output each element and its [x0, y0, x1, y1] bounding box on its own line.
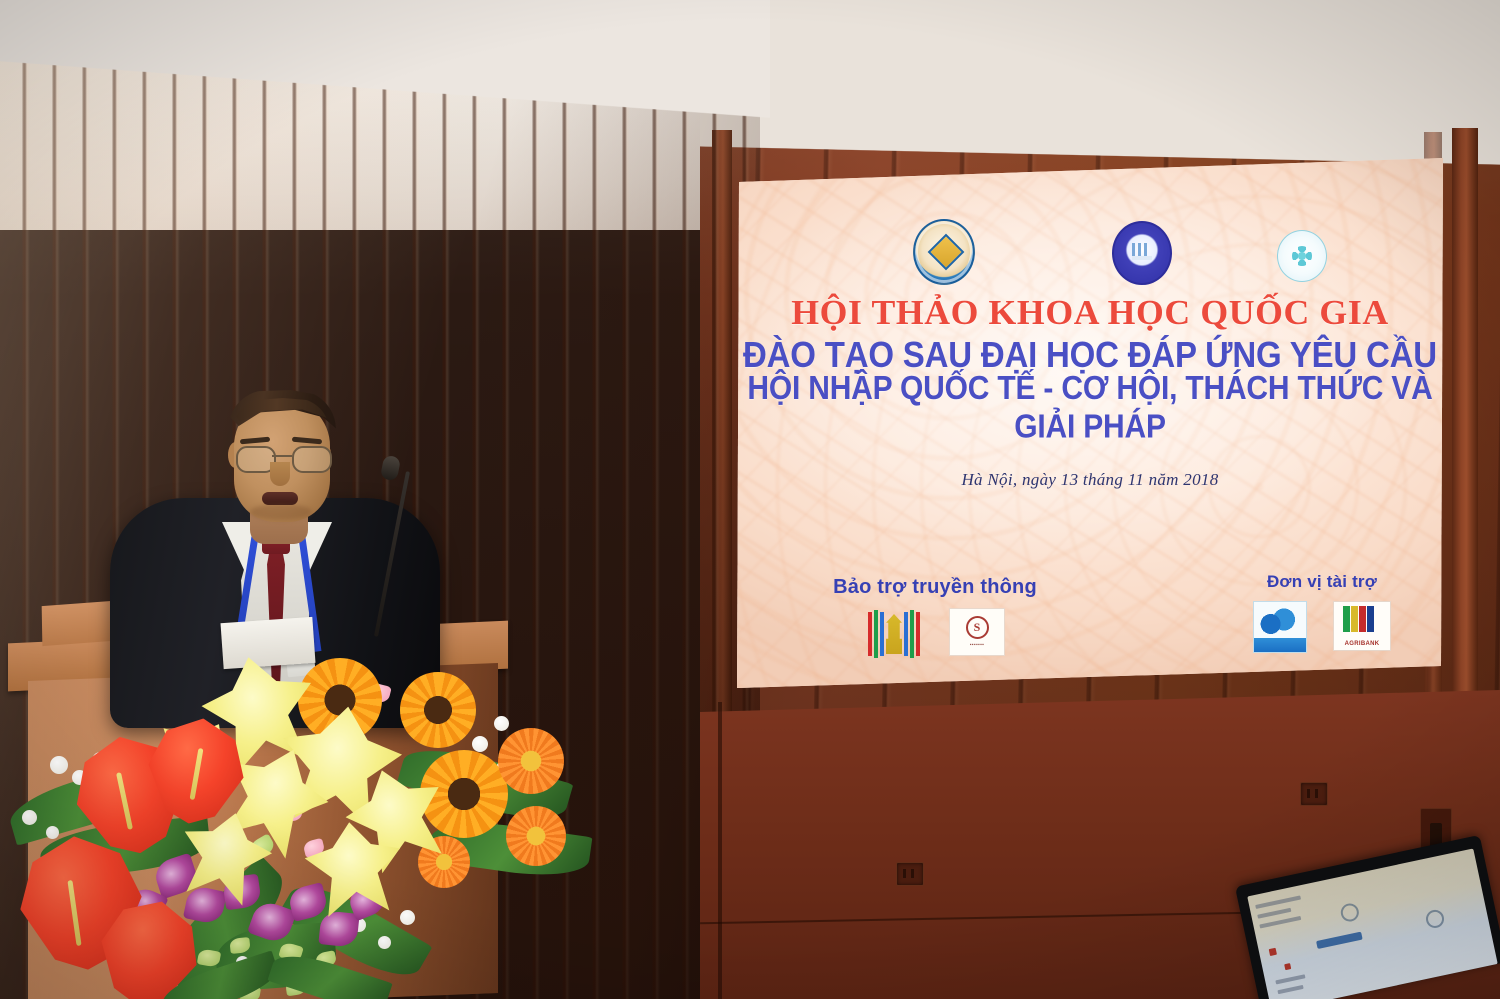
glasses-bridge — [272, 455, 292, 457]
filler-flower — [494, 716, 509, 731]
funding-sponsor-logos — [1207, 601, 1437, 653]
laptop-screen-marker — [1284, 963, 1291, 970]
hanoi-tv-logo-icon — [865, 608, 923, 660]
banner-line-red: HỘI THẢO KHOA HỌC QUỐC GIA — [730, 294, 1450, 332]
funding-sponsor-group: Đơn vị tài trợ — [1207, 572, 1437, 653]
power-outlet-icon — [1300, 782, 1328, 806]
laptop-screen-marker — [1269, 948, 1277, 956]
gerbera-flower — [506, 806, 566, 866]
power-outlet-icon — [896, 862, 924, 886]
media-sponsor-heading: Bảo trợ truyền thông — [785, 576, 1085, 599]
filler-flower — [378, 936, 391, 949]
banner-logo-row — [737, 218, 1443, 282]
banner-content: HỘI THẢO KHOA HỌC QUỐC GIA ĐÀO TẠO SAU Đ… — [737, 158, 1443, 688]
conference-photo-scene: HỘI THẢO KHOA HỌC QUỐC GIA ĐÀO TẠO SAU Đ… — [0, 0, 1500, 999]
flower-bouquet — [0, 600, 640, 999]
speaker-chin-shadow — [250, 504, 312, 520]
panel-seam — [718, 702, 722, 999]
banner-date-line: Hà Nội, ngày 13 tháng 11 năm 2018 — [737, 470, 1443, 490]
s-circle-glyph: S — [966, 616, 989, 639]
laptop-screen-text-line — [1259, 916, 1301, 929]
filler-flower — [46, 826, 59, 839]
filler-flower — [50, 756, 68, 774]
funding-sponsor-heading: Đơn vị tài trợ — [1207, 572, 1437, 592]
s-circle-logo-icon: S ▪▪▪▪▪▪▪ — [949, 608, 1005, 656]
ceiling-wall-boundary-left — [0, 0, 770, 180]
laptop-screen-icon — [1424, 908, 1445, 929]
laptop-screen-text-line — [1275, 974, 1305, 984]
filler-flower — [22, 810, 37, 825]
s-circle-caption: ▪▪▪▪▪▪▪ — [970, 642, 985, 648]
media-sponsor-logos: S ▪▪▪▪▪▪▪ — [785, 608, 1085, 660]
laptop-screen-highlight — [1316, 932, 1363, 949]
banner-line-blue-2: HỘI NHẬP QUỐC TẾ - CƠ HỘI, THÁCH THỨC VÀ… — [737, 371, 1443, 448]
laptop-screen-icon — [1339, 902, 1360, 923]
glasses-lens-right — [292, 446, 332, 473]
gerbera-flower — [498, 728, 564, 794]
speaker-nose — [270, 462, 290, 486]
filler-flower — [400, 910, 415, 925]
seal-institute-logo-icon — [1277, 230, 1327, 282]
laptop-screen-text-line — [1255, 895, 1301, 908]
projection-screen: HỘI THẢO KHOA HỌC QUỐC GIA ĐÀO TẠO SAU Đ… — [737, 158, 1443, 688]
seal-university-logo-icon — [1112, 221, 1172, 285]
laptop-screen-text-line — [1257, 908, 1291, 919]
filler-flower — [472, 736, 488, 752]
media-sponsor-group: Bảo trợ truyền thông S ▪▪▪▪▪▪▪ — [785, 576, 1085, 660]
seal-academy-logo-icon — [913, 219, 975, 285]
agribank-logo-icon — [1333, 601, 1391, 651]
institute-sponsor-logo-icon — [1253, 601, 1307, 653]
banner-title-block: HỘI THẢO KHOA HỌC QUỐC GIA ĐÀO TẠO SAU Đ… — [737, 294, 1443, 490]
laptop-screen-text-line — [1277, 985, 1303, 994]
sunflower — [400, 672, 476, 748]
